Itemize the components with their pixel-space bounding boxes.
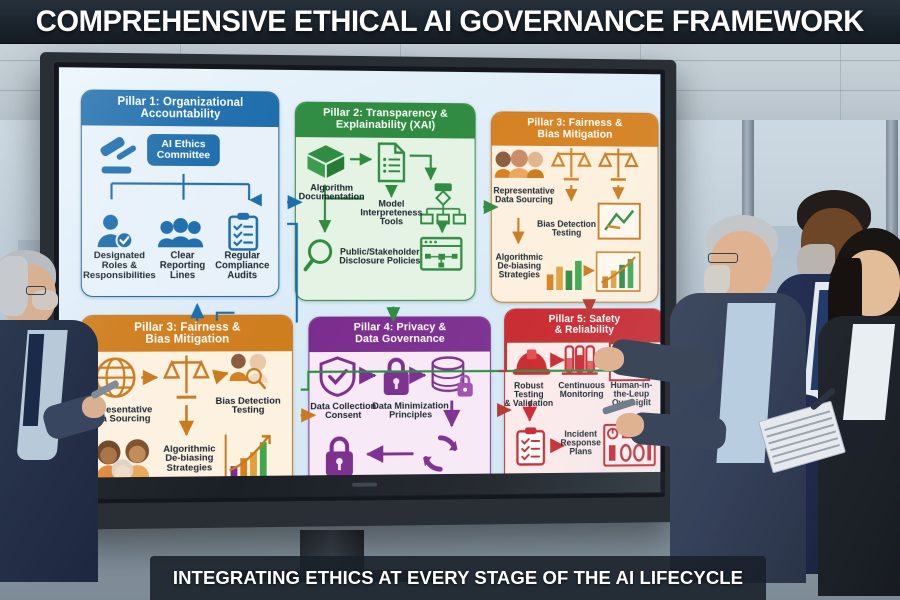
beard bbox=[704, 265, 730, 295]
footer-banner-text: INTEGRATING ETHICS AT EVERY STAGE OF THE… bbox=[173, 567, 743, 589]
person-right-woman bbox=[826, 228, 900, 588]
screenshot-stage: Pillar 1: Organizational Accountability bbox=[0, 0, 900, 600]
footer-banner: INTEGRATING ETHICS AT EVERY STAGE OF THE… bbox=[150, 556, 766, 600]
governance-framework-diagram: Pillar 1: Organizational Accountability bbox=[59, 67, 660, 499]
display-bezel: Pillar 1: Organizational Accountability bbox=[54, 62, 665, 504]
glasses bbox=[708, 253, 738, 263]
display-screen[interactable]: Pillar 1: Organizational Accountability bbox=[59, 67, 660, 499]
person-pointing bbox=[660, 215, 810, 580]
title-banner-text: COMPREHENSIVE ETHICAL AI GOVERNANCE FRAM… bbox=[36, 5, 864, 39]
touchscreen-display[interactable]: Pillar 1: Organizational Accountability bbox=[40, 52, 676, 530]
pointing-hand bbox=[594, 347, 624, 371]
person-foreground-left bbox=[0, 250, 100, 580]
connector-arrows bbox=[67, 73, 661, 498]
title-banner: COMPREHENSIVE ETHICAL AI GOVERNANCE FRAM… bbox=[0, 0, 900, 44]
